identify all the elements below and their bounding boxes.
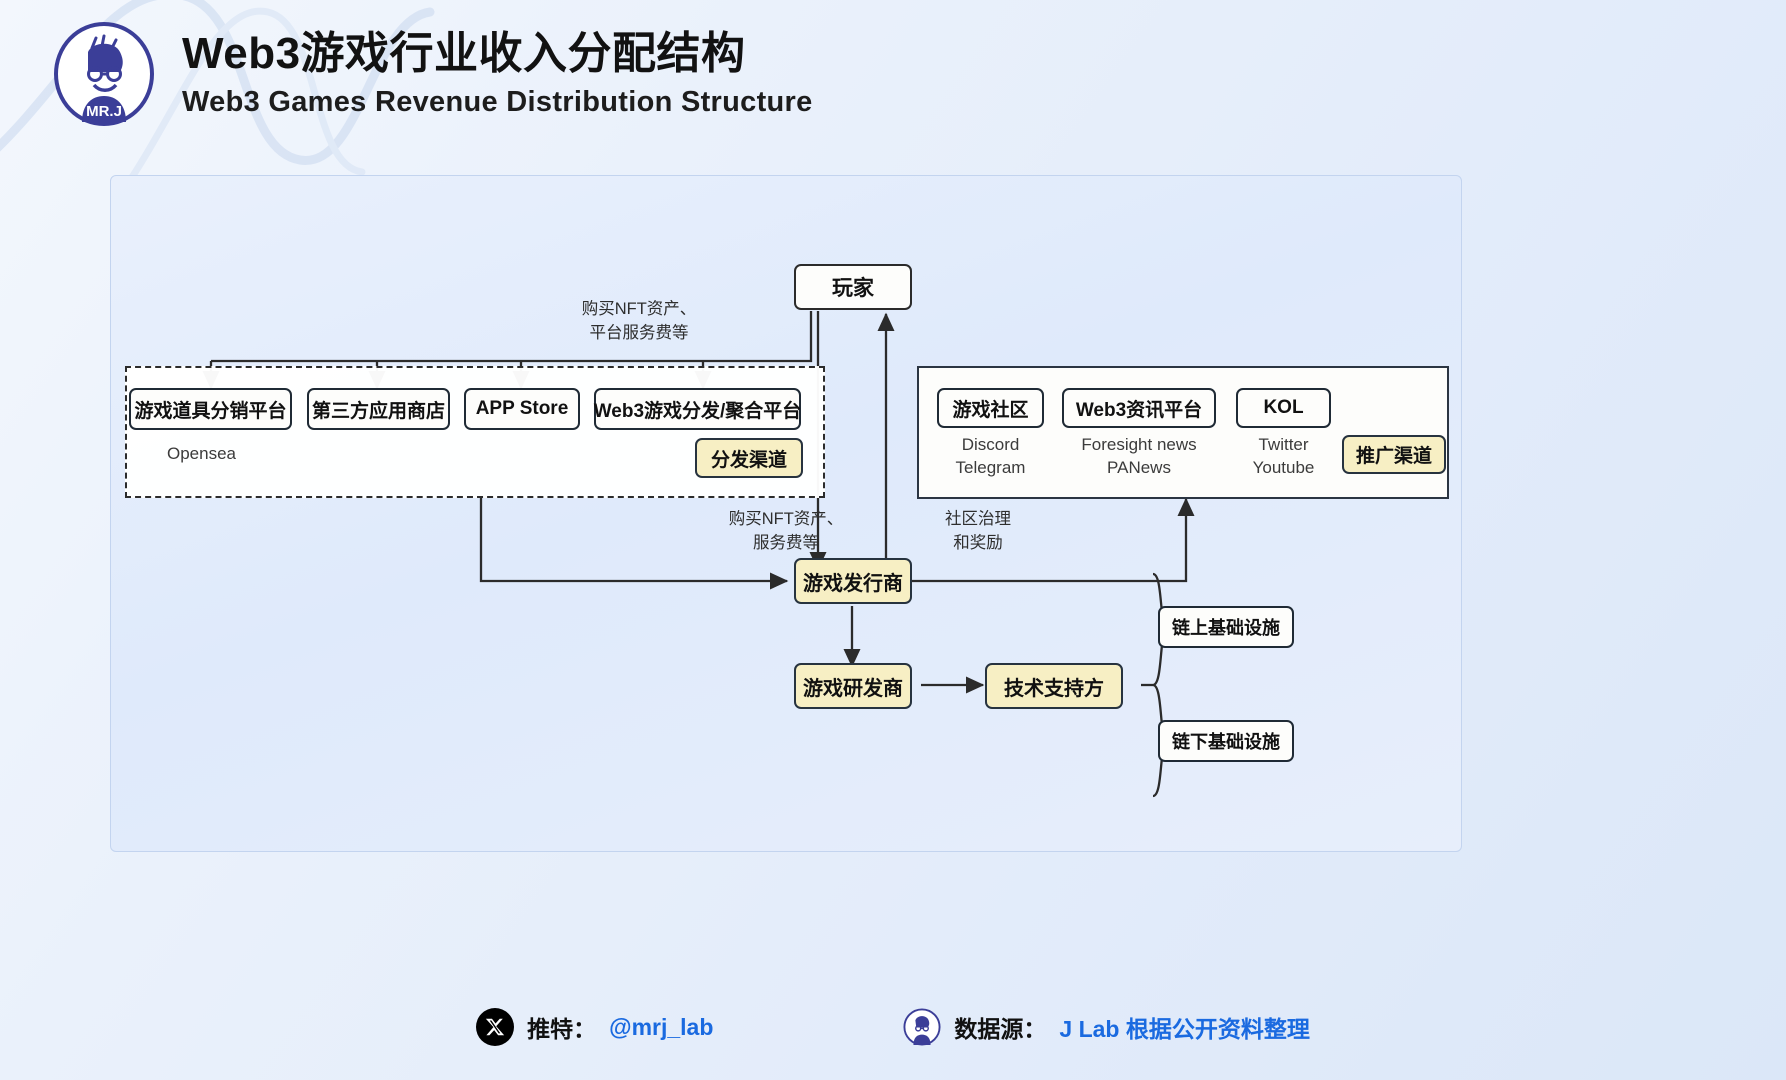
node-web3-game-distribution[interactable]: Web3游戏分发/聚合平台 bbox=[594, 388, 801, 430]
node-web3-news-platform-label: Web3资讯平台 bbox=[1076, 395, 1202, 422]
node-web3-news-platform[interactable]: Web3资讯平台 bbox=[1062, 388, 1216, 428]
edge-label-community-governance: 社区治理 和奖励 bbox=[903, 508, 1053, 556]
mr-j-mini-logo-icon bbox=[903, 1008, 941, 1046]
node-tech-support-label: 技术支持方 bbox=[1004, 672, 1104, 701]
node-game-community-label: 游戏社区 bbox=[952, 395, 1028, 422]
footer-twitter-handle[interactable]: @mrj_lab bbox=[609, 1014, 713, 1041]
footer-twitter-label: 推特： bbox=[527, 1010, 596, 1044]
node-item-distribution-platform[interactable]: 游戏道具分销平台 bbox=[129, 388, 292, 430]
node-game-publisher[interactable]: 游戏发行商 bbox=[794, 558, 912, 604]
node-offchain-infrastructure-label: 链下基础设施 bbox=[1172, 728, 1280, 754]
node-player[interactable]: 玩家 bbox=[794, 264, 912, 310]
node-game-developer[interactable]: 游戏研发商 bbox=[794, 663, 912, 709]
footer-source: 数据源： J Lab 根据公开资料整理 bbox=[903, 1008, 1309, 1046]
badge-promotion-channel-label: 推广渠道 bbox=[1356, 441, 1432, 468]
node-app-store-label: APP Store bbox=[476, 398, 569, 420]
svg-text:MR.J: MR.J bbox=[86, 103, 122, 120]
node-game-publisher-label: 游戏发行商 bbox=[803, 567, 903, 596]
node-third-party-app-store[interactable]: 第三方应用商店 bbox=[307, 388, 450, 430]
mr-j-logo-icon: MR.J bbox=[52, 22, 156, 126]
badge-promotion-channel[interactable]: 推广渠道 bbox=[1342, 435, 1446, 474]
node-item-distribution-platform-label: 游戏道具分销平台 bbox=[134, 396, 286, 423]
diagram-board: 玩家 购买NFT资产、 平台服务费等 游戏道具分销平台 第三方应用商店 APP … bbox=[110, 175, 1462, 852]
node-third-party-app-store-label: 第三方应用商店 bbox=[312, 396, 445, 423]
edge-label-player-to-channels: 购买NFT资产、 平台服务费等 bbox=[529, 298, 749, 346]
node-kol-label: KOL bbox=[1263, 397, 1303, 419]
x-twitter-icon bbox=[476, 1008, 514, 1046]
node-onchain-infrastructure-label: 链上基础设施 bbox=[1172, 614, 1280, 640]
node-game-developer-label: 游戏研发商 bbox=[803, 672, 903, 701]
node-kol-sub: Twitter Youtube bbox=[1236, 434, 1331, 480]
page-footer: 推特： @mrj_lab 数据源： J Lab 根据公开资料整理 bbox=[0, 1008, 1786, 1046]
node-kol[interactable]: KOL bbox=[1236, 388, 1331, 428]
node-game-community-sub: Discord Telegram bbox=[937, 434, 1044, 480]
opensea-note: Opensea bbox=[167, 443, 297, 466]
distribution-channel-group bbox=[125, 366, 825, 498]
node-game-community[interactable]: 游戏社区 bbox=[937, 388, 1044, 428]
node-player-label: 玩家 bbox=[832, 272, 874, 302]
node-web3-news-platform-sub: Foresight news PANews bbox=[1062, 434, 1216, 480]
footer-source-value: J Lab 根据公开资料整理 bbox=[1059, 1010, 1309, 1044]
node-web3-game-distribution-label: Web3游戏分发/聚合平台 bbox=[594, 396, 802, 423]
node-offchain-infrastructure[interactable]: 链下基础设施 bbox=[1158, 720, 1294, 762]
badge-distribution-channel-label: 分发渠道 bbox=[711, 445, 787, 472]
node-onchain-infrastructure[interactable]: 链上基础设施 bbox=[1158, 606, 1294, 648]
page-title: Web3游戏行业收入分配结构 bbox=[182, 29, 813, 80]
node-app-store[interactable]: APP Store bbox=[464, 388, 580, 430]
page-header: MR.J Web3游戏行业收入分配结构 Web3 Games Revenue D… bbox=[52, 22, 813, 126]
node-tech-support[interactable]: 技术支持方 bbox=[985, 663, 1123, 709]
edge-label-player-to-publisher: 购买NFT资产、 服务费等 bbox=[691, 508, 881, 556]
footer-twitter: 推特： @mrj_lab bbox=[476, 1008, 713, 1046]
footer-source-label: 数据源： bbox=[954, 1010, 1046, 1044]
badge-distribution-channel[interactable]: 分发渠道 bbox=[695, 438, 803, 478]
page-subtitle: Web3 Games Revenue Distribution Structur… bbox=[182, 86, 813, 119]
